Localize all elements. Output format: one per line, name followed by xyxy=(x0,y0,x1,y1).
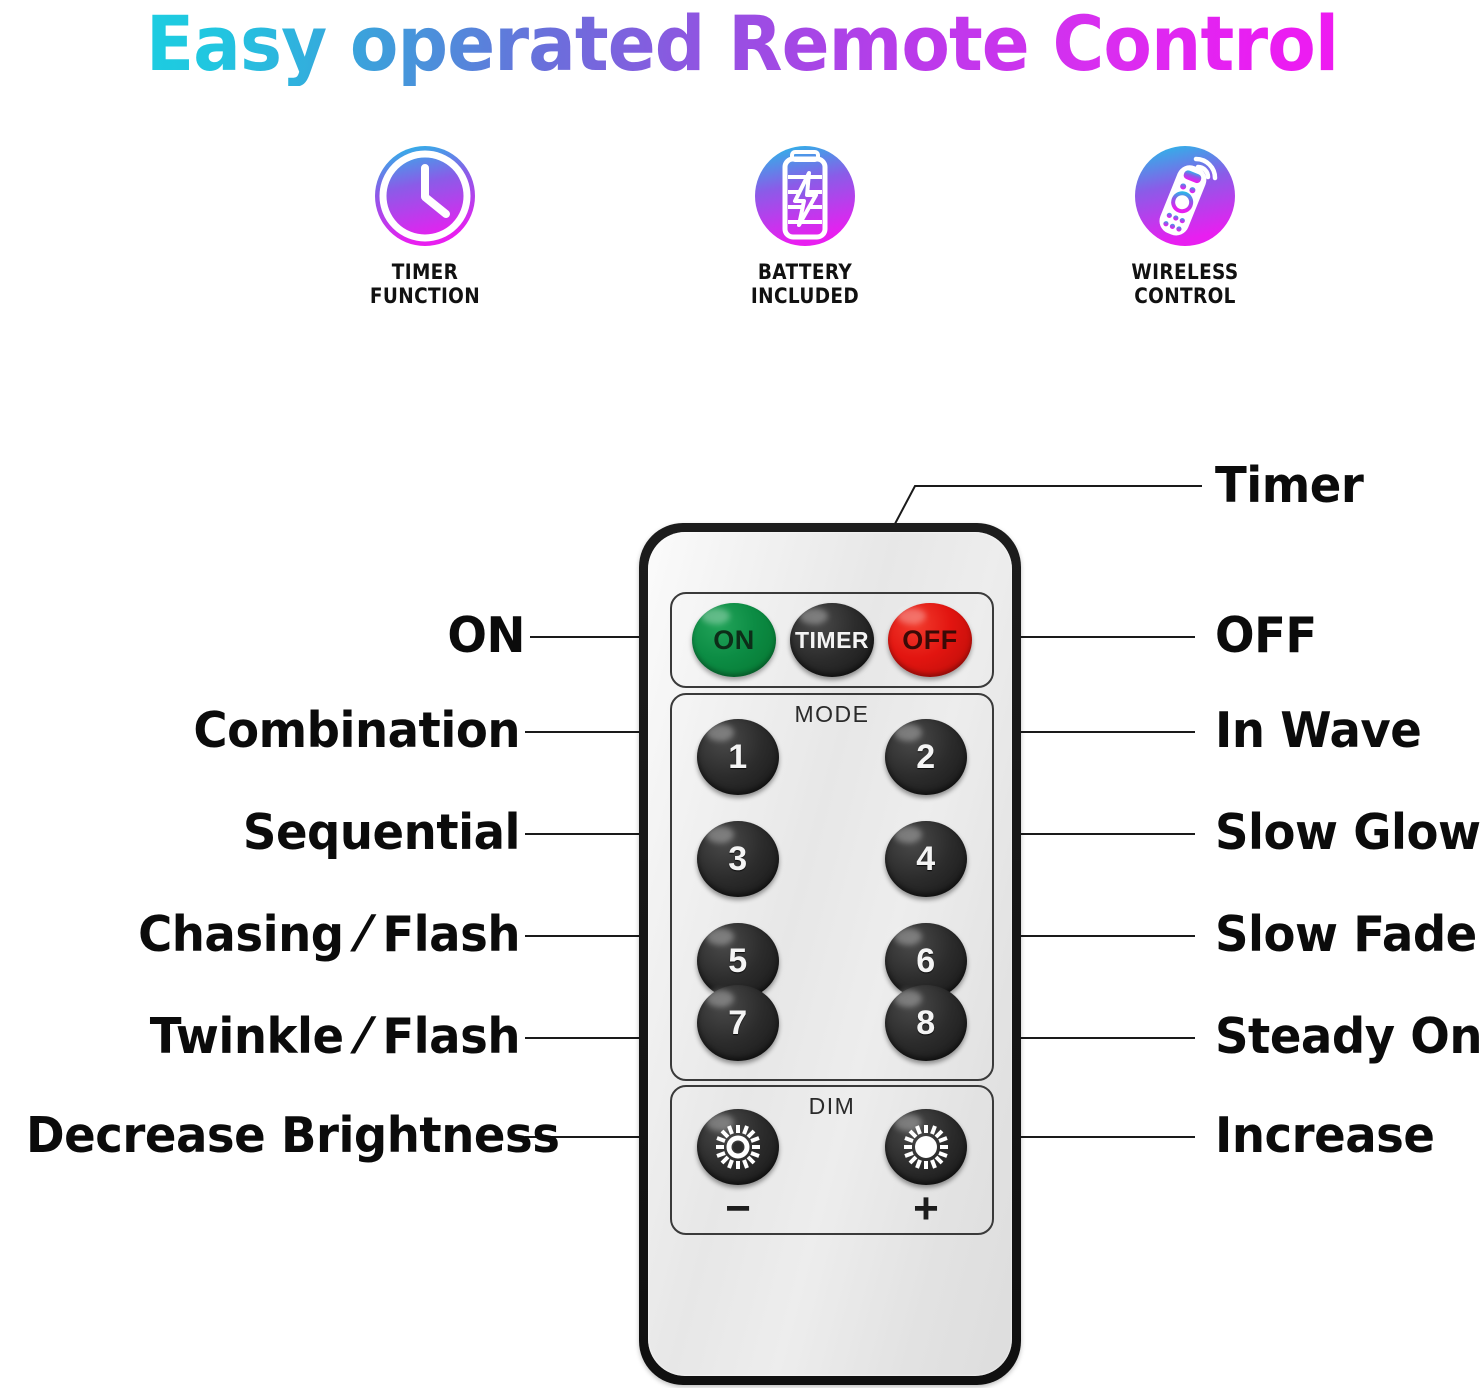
mode-panel: MODE 1 2 3 4 5 6 xyxy=(670,693,994,1081)
mode-button-5-label: 5 xyxy=(728,942,747,981)
infographic-canvas: Easy operated Remote Control TIMER FUNCT… xyxy=(0,0,1484,1388)
mode-button-7-label: 7 xyxy=(728,1004,747,1043)
sun-icon xyxy=(714,1123,762,1171)
battery-icon xyxy=(752,140,858,252)
dim-down-sign: − xyxy=(697,1187,779,1231)
callout-twinkle-flash: Twinkle ⁄ Flash xyxy=(45,1009,520,1065)
mode-button-4[interactable]: 4 xyxy=(885,821,967,897)
on-button[interactable]: ON xyxy=(692,603,776,677)
mode-button-8[interactable]: 8 xyxy=(885,985,967,1061)
off-button-label: OFF xyxy=(902,625,958,656)
callout-timer: Timer xyxy=(1215,458,1467,514)
callout-steady-on: Steady On xyxy=(1215,1009,1471,1065)
remote-control-body: ON TIMER OFF MODE 1 2 3 xyxy=(639,523,1021,1385)
clock-icon xyxy=(372,140,478,252)
callout-off: OFF xyxy=(1215,608,1467,664)
on-button-label: ON xyxy=(713,625,755,656)
mode-button-8-label: 8 xyxy=(916,1004,935,1043)
callout-increase: Increase xyxy=(1215,1108,1471,1164)
mode-button-1[interactable]: 1 xyxy=(697,719,779,795)
feature-badge-battery: BATTERY INCLUDED xyxy=(690,140,920,308)
dim-up-button[interactable] xyxy=(885,1109,967,1185)
callout-chasing-flash: Chasing ⁄ Flash xyxy=(45,907,520,963)
feature-badge-wireless-label: WIRELESS CONTROL xyxy=(1084,260,1286,308)
mode-button-3-label: 3 xyxy=(728,840,747,879)
callout-combination: Combination xyxy=(45,703,520,759)
feature-badge-timer-label: TIMER FUNCTION xyxy=(324,260,526,308)
feature-badge-wireless: WIRELESS CONTROL xyxy=(1070,140,1300,308)
feature-badge-battery-label: BATTERY INCLUDED xyxy=(704,260,906,308)
sun-icon xyxy=(902,1123,950,1171)
off-button[interactable]: OFF xyxy=(888,603,972,677)
remote-icon xyxy=(1132,140,1238,252)
timer-button[interactable]: TIMER xyxy=(790,603,874,677)
page-title: Easy operated Remote Control xyxy=(52,2,1432,86)
mode-button-6-label: 6 xyxy=(916,942,935,981)
dim-panel: DIM xyxy=(670,1085,994,1235)
mode-button-2[interactable]: 2 xyxy=(885,719,967,795)
callout-sequential: Sequential xyxy=(45,805,520,861)
callout-slow-glow: Slow Glow xyxy=(1215,805,1471,861)
callout-in-wave: In Wave xyxy=(1215,703,1471,759)
callout-on: ON xyxy=(45,608,525,664)
callout-decrease-brightness: Decrease Brightness xyxy=(26,1108,520,1164)
mode-button-7[interactable]: 7 xyxy=(697,985,779,1061)
timer-button-label: TIMER xyxy=(795,627,869,654)
power-panel: ON TIMER OFF xyxy=(670,592,994,688)
dim-up-sign: + xyxy=(885,1187,967,1231)
callout-slow-fade: Slow Fade xyxy=(1215,907,1471,963)
feature-badge-timer: TIMER FUNCTION xyxy=(310,140,540,308)
remote-face: ON TIMER OFF MODE 1 2 3 xyxy=(648,532,1012,1376)
mode-button-3[interactable]: 3 xyxy=(697,821,779,897)
mode-button-1-label: 1 xyxy=(728,738,747,777)
mode-button-2-label: 2 xyxy=(916,738,935,777)
mode-button-4-label: 4 xyxy=(916,840,935,879)
dim-down-button[interactable] xyxy=(697,1109,779,1185)
